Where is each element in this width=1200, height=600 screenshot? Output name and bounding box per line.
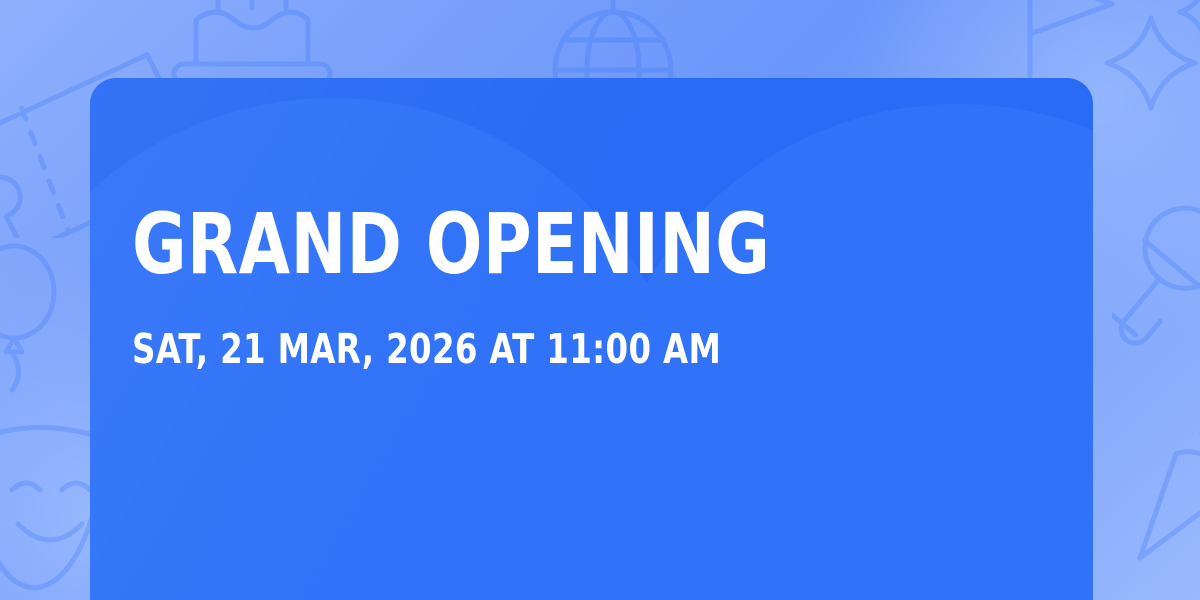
event-banner: GRAND OPENING SAT, 21 MAR, 2026 AT 11:00… <box>0 0 1200 600</box>
balloon-icon <box>0 238 74 398</box>
cake-icon <box>162 0 342 86</box>
sparkle-icon <box>1174 0 1200 42</box>
card-content: GRAND OPENING SAT, 21 MAR, 2026 AT 11:00… <box>132 206 1053 370</box>
event-card: GRAND OPENING SAT, 21 MAR, 2026 AT 11:00… <box>90 78 1093 600</box>
ticket-icon <box>1006 0 1136 84</box>
event-title: GRAND OPENING <box>132 206 942 283</box>
event-datetime: SAT, 21 MAR, 2026 AT 11:00 AM <box>132 329 942 370</box>
confetti-icon <box>1118 412 1200 582</box>
microphone-icon <box>1112 188 1200 368</box>
